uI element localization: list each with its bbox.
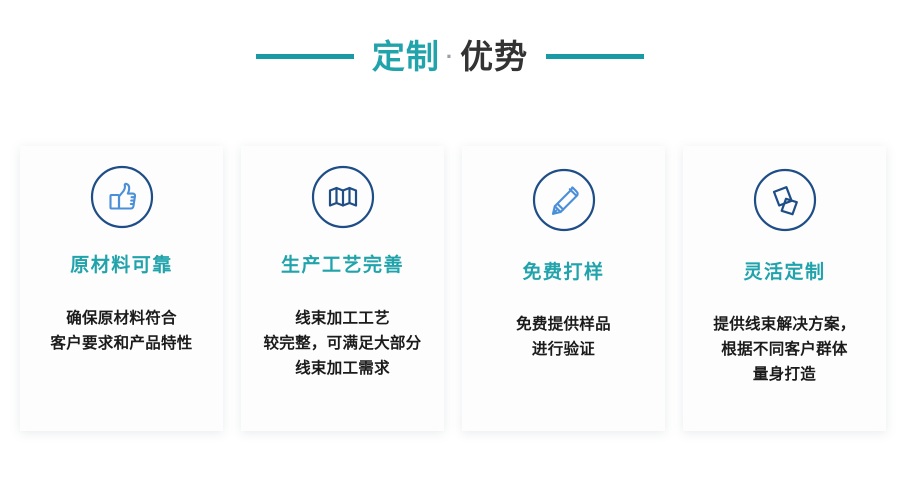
body-line: 提供线束解决方案， [689,312,880,337]
body-line: 进行验证 [468,337,659,362]
body-line: 确保原材料符合 [26,306,217,331]
page-title-accent: 定制 [372,40,440,73]
advantage-card-4-body: 提供线束解决方案， 根据不同客户群体 量身打造 [689,312,880,387]
body-line: 量身打造 [689,362,880,387]
advantage-card-4[interactable]: 灵活定制 提供线束解决方案， 根据不同客户群体 量身打造 [683,146,886,431]
page-title-separator: · [440,46,460,68]
folded-map-icon [307,161,379,233]
advantage-card-1-body: 确保原材料符合 客户要求和产品特性 [26,306,217,356]
advantage-card-3[interactable]: 免费打样 免费提供样品 进行验证 [462,146,665,431]
body-line: 线束加工需求 [247,356,438,381]
advantage-card-list: 原材料可靠 确保原材料符合 客户要求和产品特性 生产工艺完善 线束加工工艺 较完… [20,146,884,431]
section-heading: 定制 · 优势 [0,28,900,84]
body-line: 根据不同客户群体 [689,337,880,362]
page-title: 定制 · 优势 [372,40,528,73]
stacked-sheets-icon [749,164,821,236]
advantage-card-2-title: 生产工艺完善 [241,256,444,275]
advantage-card-2-body: 线束加工工艺 较完整，可满足大部分 线束加工需求 [247,306,438,381]
heading-rule-right-icon [546,54,644,59]
thumbs-up-icon [86,161,158,233]
body-line: 线束加工工艺 [247,306,438,331]
advantage-card-1[interactable]: 原材料可靠 确保原材料符合 客户要求和产品特性 [20,146,223,431]
body-line: 较完整，可满足大部分 [247,331,438,356]
advantage-card-1-title: 原材料可靠 [20,256,223,275]
advantage-card-3-title: 免费打样 [462,263,665,282]
heading-rule-left-icon [256,54,354,59]
body-line: 客户要求和产品特性 [26,331,217,356]
advantage-card-3-body: 免费提供样品 进行验证 [468,312,659,362]
advantage-card-4-title: 灵活定制 [683,263,886,282]
body-line: 免费提供样品 [468,312,659,337]
page-title-main: 优势 [460,40,528,73]
advantage-card-2[interactable]: 生产工艺完善 线束加工工艺 较完整，可满足大部分 线束加工需求 [241,146,444,431]
pencil-icon [528,164,600,236]
